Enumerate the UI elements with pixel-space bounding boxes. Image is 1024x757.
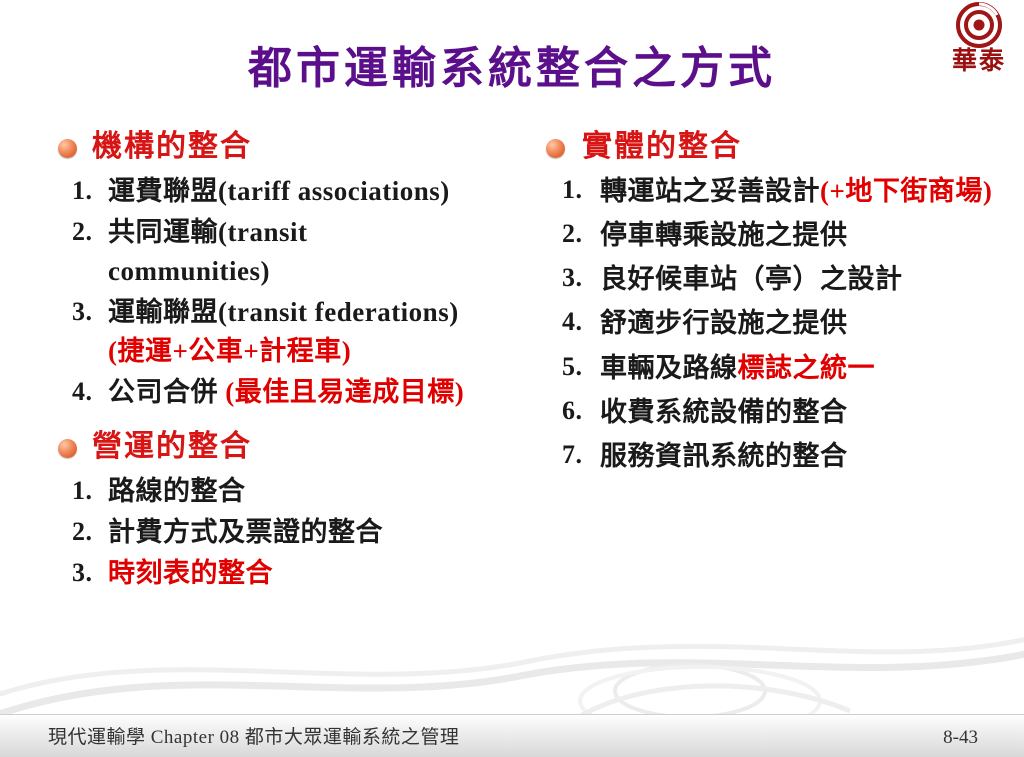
section-heading-operational: 營運的整合 <box>46 428 546 466</box>
list-item-number: 3. <box>72 293 93 331</box>
list-item-number: 1. <box>562 172 583 209</box>
list-item: 3. 良好候車站（亭）之設計 <box>534 260 1024 298</box>
list-item: 6. 收費系統設備的整合 <box>534 393 1024 431</box>
left-column: 機構的整合 1. 運費聯盟(tariff associations) 2. 共同… <box>46 128 546 595</box>
list-item-number: 2. <box>72 513 93 551</box>
list-item-text: 車輛及路線 <box>600 353 738 383</box>
list-item-text: 路線的整合 <box>108 476 246 506</box>
list-operational: 1. 路線的整合 2. 計費方式及票證的整合 3. 時刻表的整合 <box>46 472 546 593</box>
list-item-number: 4. <box>562 304 583 341</box>
list-item: 1. 轉運站之妥善設計(+地下街商場) <box>534 172 1024 210</box>
list-item: 2. 計費方式及票證的整合 <box>46 513 546 552</box>
section-heading-organizational: 機構的整合 <box>46 128 546 166</box>
slide: 華泰 都市運輸系統整合之方式 機構的整合 1. 運費聯盟(tariff asso… <box>0 0 1024 757</box>
list-item-number: 1. <box>72 472 93 510</box>
list-item-text: 舒適步行設施之提供 <box>600 308 848 338</box>
bullet-dot-icon <box>58 139 77 158</box>
list-item-text: 轉運站之妥善設計 <box>600 176 820 206</box>
list-item: 2. 停車轉乘設施之提供 <box>534 216 1024 254</box>
section-heading-label: 機構的整合 <box>92 130 252 163</box>
bullet-dot-icon <box>58 439 77 458</box>
list-item: 1. 路線的整合 <box>46 472 546 511</box>
right-column: 實體的整合 1. 轉運站之妥善設計(+地下街商場) 2. 停車轉乘設施之提供 3… <box>534 128 1024 482</box>
footer-text: 現代運輸學 Chapter 08 都市大眾運輸系統之管理 <box>48 722 459 749</box>
list-item-text-emphasis: (+地下街商場) <box>820 176 992 206</box>
list-item-text: 運輸聯盟(transit federations) <box>108 297 459 327</box>
list-item-number: 2. <box>72 213 93 251</box>
list-item: 1. 運費聯盟(tariff associations) <box>46 172 546 211</box>
list-item-text-cont: communities) <box>108 252 546 291</box>
list-item-text: 收費系統設備的整合 <box>600 397 848 427</box>
list-organizational: 1. 運費聯盟(tariff associations) 2. 共同運輸(tra… <box>46 172 546 413</box>
list-item-text-emphasis: 標誌之統一 <box>738 353 876 383</box>
section-spacer <box>46 414 546 428</box>
list-item-number: 6. <box>562 393 583 430</box>
list-item-text: 服務資訊系統的整合 <box>600 441 848 471</box>
list-item-text: 公司合併 <box>108 377 225 407</box>
background-decoration <box>0 581 1024 731</box>
section-heading-label: 實體的整合 <box>582 130 742 163</box>
list-item: 7. 服務資訊系統的整合 <box>534 437 1024 475</box>
list-item-number: 5. <box>562 349 583 386</box>
list-item-text: 共同運輸(transit <box>108 217 307 247</box>
list-physical: 1. 轉運站之妥善設計(+地下街商場) 2. 停車轉乘設施之提供 3. 良好候車… <box>534 172 1024 476</box>
list-item-text-emphasis: (最佳且易達成目標) <box>225 377 464 407</box>
list-item-text-emphasis: (捷運+公車+計程車) <box>108 332 546 371</box>
list-item-number: 1. <box>72 172 93 210</box>
list-item: 5. 車輛及路線標誌之統一 <box>534 349 1024 387</box>
page-title: 都市運輸系統整合之方式 <box>0 32 1024 96</box>
list-item-text: 運費聯盟(tariff associations) <box>108 176 450 206</box>
section-heading-label: 營運的整合 <box>92 430 252 463</box>
list-item-text: 計費方式及票證的整合 <box>108 517 383 547</box>
list-item: 3. 時刻表的整合 <box>46 554 546 593</box>
list-item-number: 3. <box>72 554 93 592</box>
list-item: 3. 運輸聯盟(transit federations) (捷運+公車+計程車) <box>46 293 546 371</box>
list-item-number: 4. <box>72 373 93 411</box>
section-heading-physical: 實體的整合 <box>534 128 1024 166</box>
bullet-dot-icon <box>546 139 565 158</box>
list-item-text-emphasis: 時刻表的整合 <box>108 558 273 588</box>
list-item-number: 3. <box>562 260 583 297</box>
list-item: 4. 舒適步行設施之提供 <box>534 304 1024 342</box>
list-item-text: 停車轉乘設施之提供 <box>600 220 848 250</box>
footer-page-number: 8-43 <box>943 727 978 749</box>
list-item: 2. 共同運輸(transit communities) <box>46 213 546 291</box>
list-item-number: 7. <box>562 437 583 474</box>
list-item-text: 良好候車站（亭）之設計 <box>600 264 903 294</box>
list-item-number: 2. <box>562 216 583 253</box>
list-item: 4. 公司合併 (最佳且易達成目標) <box>46 373 546 412</box>
